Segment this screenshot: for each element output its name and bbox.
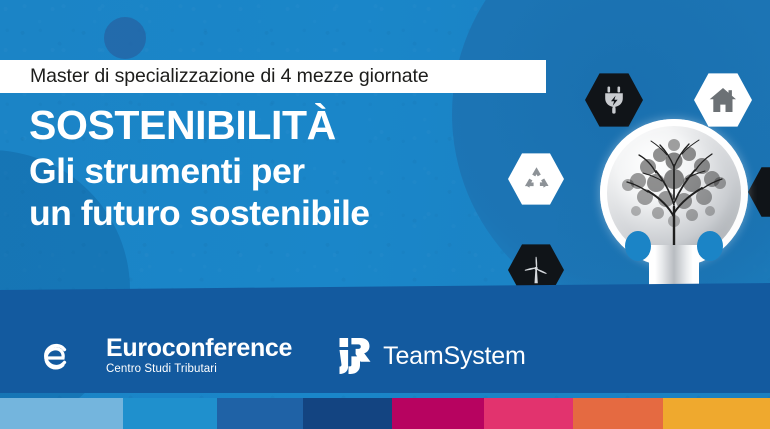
euroconference-wordmark: Euroconference Centro Studi Tributari — [106, 336, 292, 376]
color-strip-segment-navy — [303, 398, 391, 429]
teamsystem-name: TeamSystem — [383, 342, 525, 371]
ts-monogram-icon — [338, 338, 372, 374]
ec-monogram-icon — [42, 339, 96, 373]
promo-banner: Master di specializzazione di 4 mezze gi… — [0, 0, 770, 429]
euroconference-name: Euroconference — [106, 336, 292, 361]
footer-logos: Euroconference Centro Studi Tributari Te… — [0, 319, 770, 393]
eyebrow-banner: Master di specializzazione di 4 mezze gi… — [0, 60, 546, 93]
headline-block: SOSTENIBILITÀ Gli strumenti per un futur… — [29, 104, 549, 234]
color-strip-segment-pink — [484, 398, 572, 429]
color-strip-segment-light-blue — [0, 398, 123, 429]
color-strip-segment-orange — [573, 398, 664, 429]
color-strip-segment-azure — [123, 398, 217, 429]
subtitle-line-2: un futuro sostenibile — [29, 193, 549, 235]
euroconference-tagline: Centro Studi Tributari — [106, 364, 292, 376]
color-strip-segment-amber — [663, 398, 769, 429]
euroconference-logo: Euroconference Centro Studi Tributari — [42, 336, 292, 376]
teamsystem-logo: TeamSystem — [338, 338, 525, 374]
page-title: SOSTENIBILITÀ — [29, 104, 549, 147]
subtitle-line-1: Gli strumenti per — [29, 151, 549, 193]
background-dot-decoration — [104, 17, 146, 59]
color-strip — [0, 398, 770, 429]
color-strip-segment-medium-blue — [217, 398, 303, 429]
eyebrow-text: Master di specializzazione di 4 mezze gi… — [30, 65, 429, 88]
color-strip-segment-magenta — [392, 398, 485, 429]
